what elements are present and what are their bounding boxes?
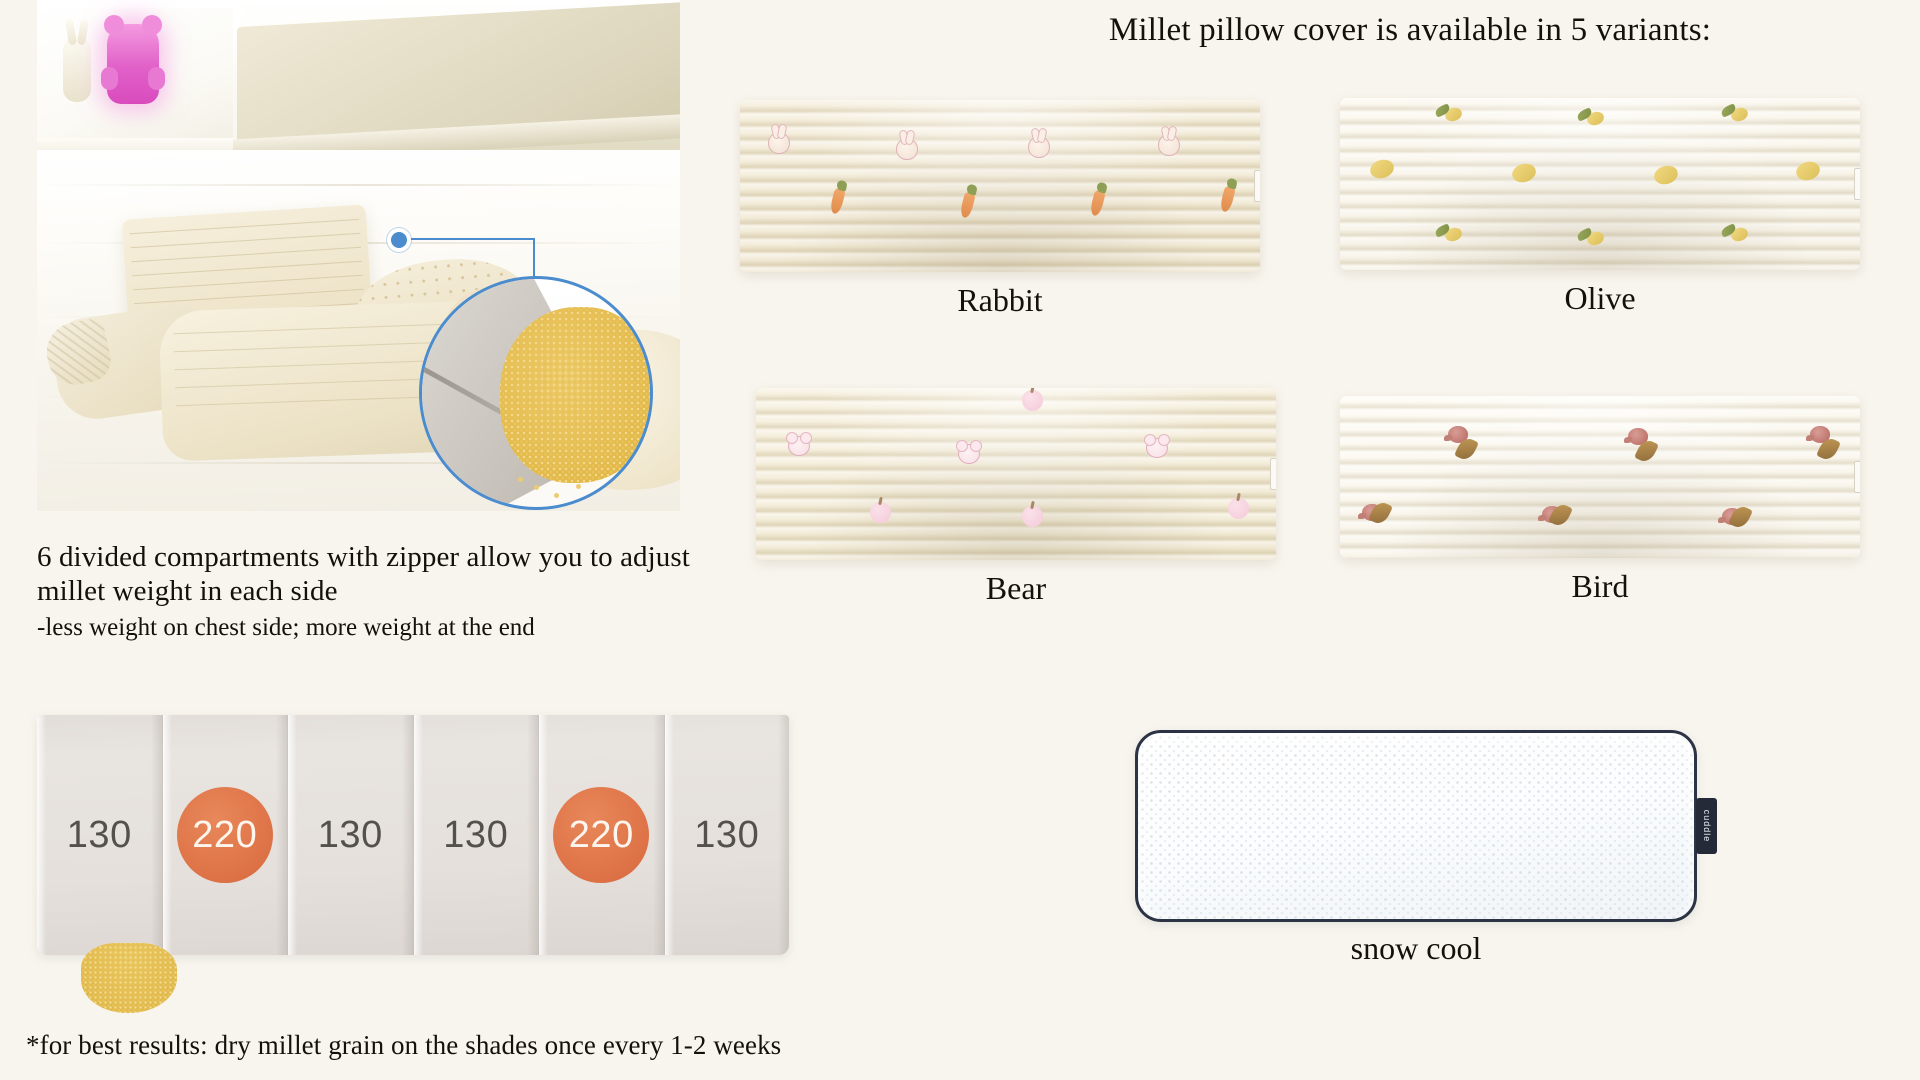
compartment-weight: 130	[318, 814, 383, 857]
apple-motif-icon	[1022, 506, 1043, 527]
olive-motif-icon	[1722, 106, 1748, 122]
care-footnote: *for best results: dry millet grain on t…	[26, 1030, 781, 1061]
bear-motif-icon	[1146, 438, 1168, 458]
olive-motif-icon	[1436, 106, 1462, 122]
bird-motif-icon	[1448, 426, 1468, 443]
millet-grains	[500, 307, 653, 483]
olive-motif-icon	[1722, 226, 1748, 242]
compartment-weight: 130	[67, 814, 132, 857]
bird-motif-icon	[1628, 428, 1648, 445]
variant-label-olive: Olive	[1340, 280, 1860, 317]
apple-motif-icon	[1228, 498, 1249, 519]
cover-image-rabbit	[740, 100, 1260, 272]
variant-bird[interactable]: Bird	[1340, 396, 1860, 558]
compartment-description: 6 divided compartments with zipper allow…	[37, 540, 717, 643]
hero-photo	[37, 0, 680, 511]
compartment-cell: 130	[288, 715, 414, 955]
bear-night-light	[107, 24, 159, 104]
bear-motif-icon	[958, 444, 980, 464]
bird-motif-icon	[1810, 426, 1830, 443]
compartment-cell: 220	[163, 715, 289, 955]
bunny-figurine	[63, 36, 91, 102]
olive-motif-icon	[1578, 110, 1604, 126]
compartment-cell: 220	[539, 715, 665, 955]
cover-image-bear	[756, 388, 1276, 560]
variant-olive[interactable]: Olive	[1340, 98, 1860, 270]
olive-motif-icon	[1436, 226, 1462, 242]
compartment-diagram: 130 220 130 130 220 130	[37, 715, 789, 955]
variant-label-bear: Bear	[756, 570, 1276, 607]
cover-image-bird	[1340, 396, 1860, 558]
compartment-cell: 130	[414, 715, 540, 955]
variants-title: Millet pillow cover is available in 5 va…	[960, 12, 1860, 49]
olive-motif-icon	[1578, 230, 1604, 246]
rabbit-motif-icon	[1158, 134, 1180, 156]
variant-snow-cool[interactable]: cuddle snow cool	[1135, 730, 1697, 922]
millet-magnifier-circle	[419, 276, 653, 510]
cover-image-olive	[1340, 98, 1860, 270]
cover-image-snow-cool	[1135, 730, 1697, 922]
callout-connector-drop	[533, 238, 535, 280]
bird-motif-icon	[1542, 506, 1562, 523]
variant-label-rabbit: Rabbit	[740, 282, 1260, 319]
compartment-pillow: 130 220 130 130 220 130	[37, 715, 789, 955]
brand-tag	[1854, 168, 1860, 200]
compartment-cell: 130	[665, 715, 790, 955]
apple-motif-icon	[870, 502, 891, 523]
rabbit-motif-icon	[896, 138, 918, 160]
variant-label-bird: Bird	[1340, 568, 1860, 605]
rabbit-motif-icon	[1028, 136, 1050, 158]
bird-motif-icon	[1362, 504, 1382, 521]
callout-connector	[409, 238, 535, 240]
brand-tag: cuddle	[1696, 798, 1717, 854]
rabbit-motif-icon	[768, 132, 790, 154]
brand-tag	[1254, 170, 1260, 202]
variant-bear[interactable]: Bear	[756, 388, 1276, 560]
callout-marker-dot	[387, 228, 411, 252]
infographic-page: 6 divided compartments with zipper allow…	[0, 0, 1920, 1080]
compartment-cell: 130	[37, 715, 163, 955]
millet-spill	[81, 943, 177, 1013]
brand-tag	[1270, 458, 1276, 490]
compartment-weight: 220	[553, 787, 649, 883]
compartment-weight: 130	[694, 814, 759, 857]
bird-motif-icon	[1722, 508, 1742, 525]
apple-motif-icon	[1022, 390, 1043, 411]
brand-tag	[1854, 461, 1860, 493]
variant-rabbit[interactable]: Rabbit	[740, 100, 1260, 272]
brand-tag-label: cuddle	[1702, 810, 1712, 843]
variant-label-snow-cool: snow cool	[1135, 930, 1697, 967]
compartment-weight: 130	[443, 814, 508, 857]
compartment-weight: 220	[177, 787, 273, 883]
description-sub: -less weight on chest side; more weight …	[37, 613, 717, 643]
description-lead: 6 divided compartments with zipper allow…	[37, 540, 717, 608]
bear-motif-icon	[788, 436, 810, 456]
